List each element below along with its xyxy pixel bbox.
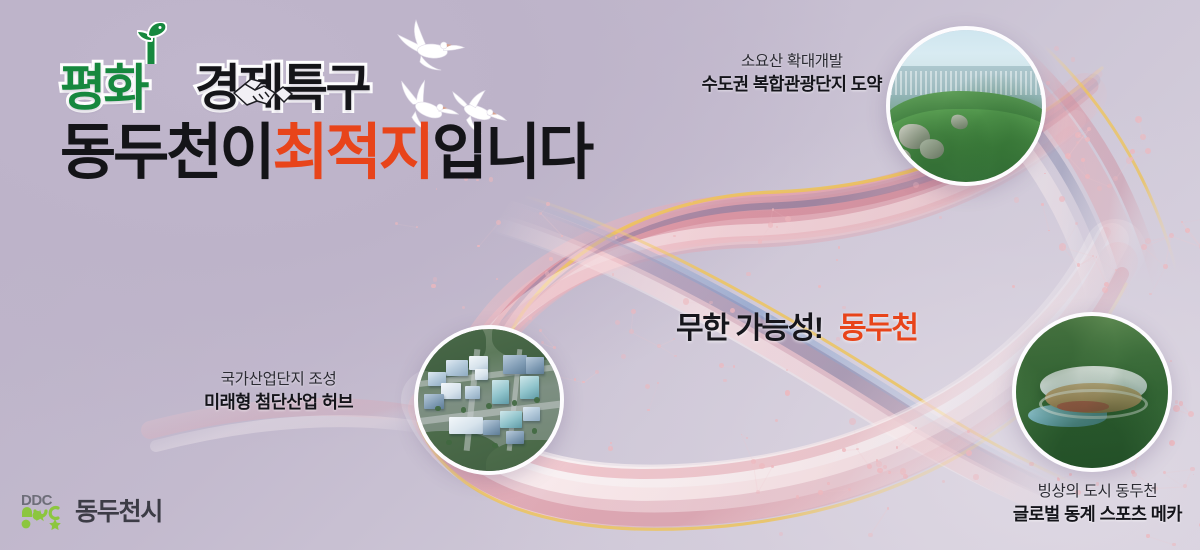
particle-dot bbox=[1097, 186, 1101, 190]
particle-dot bbox=[723, 379, 727, 383]
ddc-letters: DDC bbox=[21, 492, 53, 509]
particle-dot bbox=[779, 532, 783, 536]
city-wordmark: 동두천시 bbox=[75, 492, 162, 528]
particle-dot bbox=[436, 188, 438, 190]
industrial-complex-photo bbox=[414, 325, 564, 475]
headline-best-place: 최적지 bbox=[272, 118, 431, 186]
headline-line-1: 평화 경제특구 bbox=[60, 52, 591, 116]
headline-city: 동두천이 bbox=[60, 118, 272, 186]
particle-dot bbox=[1014, 197, 1019, 202]
particle-dot bbox=[615, 320, 620, 325]
callout-soyosan-line2: 수도권 복합관광단지 도약 bbox=[702, 73, 882, 96]
ice-arena-photo bbox=[1012, 312, 1172, 472]
callout-winter-sports-line2: 글로벌 동계 스포츠 메카 bbox=[1013, 503, 1182, 526]
promo-banner: 평화 경제특구 bbox=[0, 0, 1200, 550]
headline-line-2: 동두천이최적지입니다 bbox=[60, 122, 591, 183]
particle-link bbox=[721, 366, 733, 368]
particle-dot bbox=[973, 474, 978, 479]
slogan-city: 동두천 bbox=[839, 312, 918, 345]
particle-dot bbox=[818, 285, 821, 288]
dove-sprout-icon bbox=[137, 22, 167, 64]
callout-soyosan-line1: 소요산 확대개발 bbox=[702, 52, 882, 73]
particle-dot bbox=[433, 277, 437, 281]
ddc-logo-mark-icon: DDC bbox=[20, 490, 66, 530]
particle-dot bbox=[939, 216, 942, 219]
particle-dot bbox=[545, 271, 549, 275]
particle-dot bbox=[1046, 81, 1049, 84]
slogan-lead: 무한 가능성! bbox=[676, 312, 823, 345]
particle-dot bbox=[796, 495, 799, 498]
particle-dot bbox=[462, 306, 465, 309]
mountain-landscape-photo bbox=[886, 26, 1046, 186]
particle-dot bbox=[529, 316, 532, 319]
headline-block: 평화 경제특구 bbox=[60, 52, 591, 183]
headline-suffix: 입니다 bbox=[432, 118, 591, 186]
particle-dot bbox=[1059, 196, 1065, 202]
callout-industrial-line1: 국가산업단지 조성 bbox=[204, 370, 353, 391]
callout-soyosan: 소요산 확대개발 수도권 복합관광단지 도약 bbox=[702, 52, 882, 96]
center-slogan: 무한 가능성! 동두천 bbox=[676, 303, 918, 347]
particle-dot bbox=[785, 390, 791, 396]
handshake-icon bbox=[231, 74, 295, 114]
headline-peace: 평화 bbox=[60, 48, 147, 120]
callout-winter-sports: 빙상의 도시 동두천 글로벌 동계 스포츠 메카 bbox=[1013, 482, 1182, 526]
particle-dot bbox=[1054, 46, 1060, 52]
callout-industrial: 국가산업단지 조성 미래형 첨단산업 허브 bbox=[204, 370, 353, 414]
particle-dot bbox=[690, 200, 693, 203]
particle-link bbox=[1132, 151, 1148, 153]
callout-winter-sports-line1: 빙상의 도시 동두천 bbox=[1013, 482, 1182, 503]
particle-dot bbox=[913, 182, 919, 188]
city-logo: DDC 동두천시 bbox=[20, 490, 162, 530]
callout-industrial-line2: 미래형 첨단산업 허브 bbox=[204, 391, 353, 414]
